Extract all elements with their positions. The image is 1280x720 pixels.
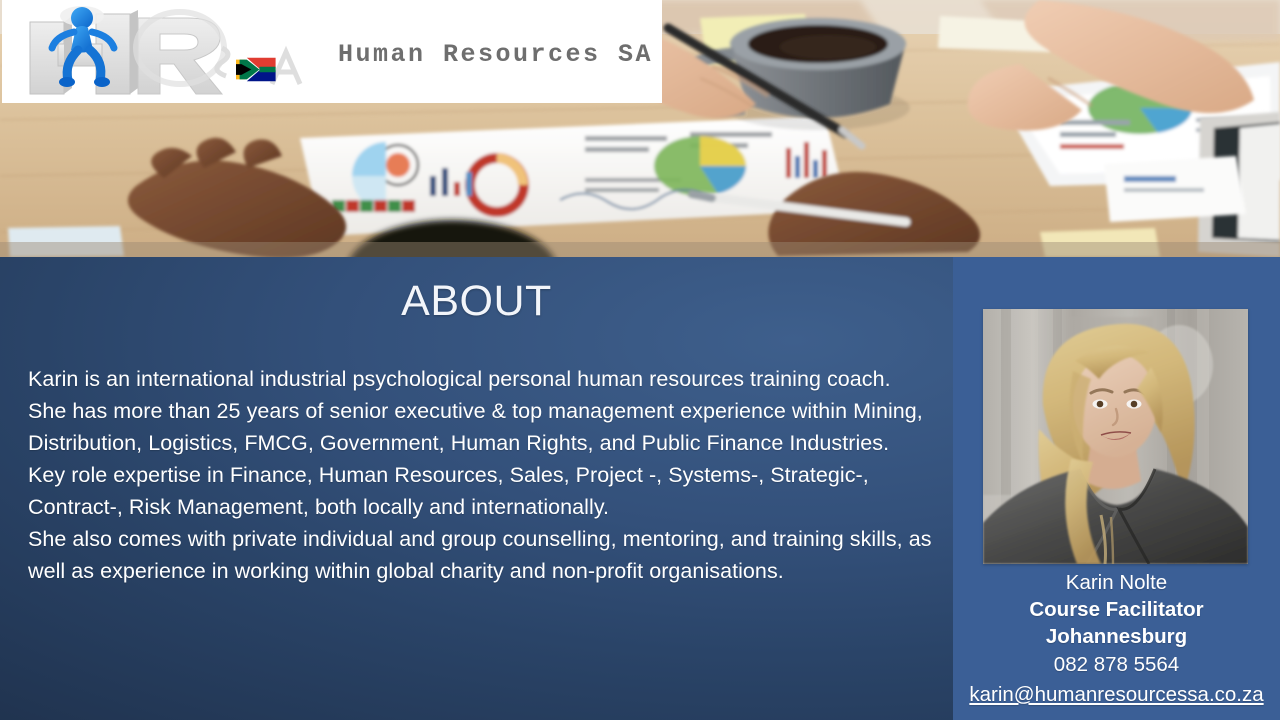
contact-details: Karin Nolte Course Facilitator Johannesb… [953,569,1280,708]
hr-sa-logo-icon [14,4,314,100]
profile-role: Course Facilitator [953,596,1280,623]
page-title: ABOUT [0,277,953,326]
logo-box: Human Resources SA [2,0,662,103]
logo-wordmark: Human Resources SA [338,40,653,69]
profile-email-link[interactable]: karin@humanresourcessa.co.za [969,681,1263,708]
about-paragraph: She also comes with private individual a… [28,523,938,587]
profile-phone: 082 878 5564 [953,650,1280,679]
karin-nolte-portrait-photo [983,309,1248,564]
header-banner-photo: Human Resources SA [0,0,1280,257]
profile-city: Johannesburg [953,623,1280,650]
about-paragraph: Karin is an international industrial psy… [28,363,938,395]
profile-name: Karin Nolte [953,569,1280,596]
about-slide: Human Resources SA ABOUT Karin is an int… [0,0,1280,720]
about-text-block: Karin is an international industrial psy… [28,363,938,587]
profile-panel: Karin Nolte Course Facilitator Johannesb… [953,257,1280,720]
about-paragraph: Key role expertise in Finance, Human Res… [28,459,938,523]
avatar [983,309,1248,564]
about-paragraph: She has more than 25 years of senior exe… [28,395,938,459]
